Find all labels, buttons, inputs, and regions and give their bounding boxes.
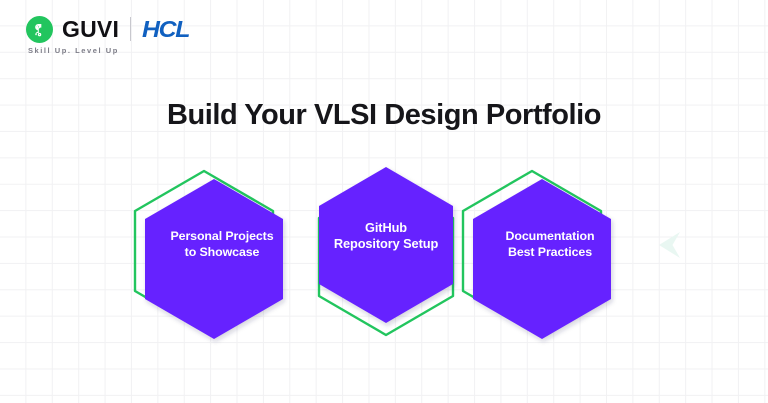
hexagon-card-1[interactable]: Personal Projects to Showcase xyxy=(136,168,308,316)
hexagon-shape-3 xyxy=(464,168,636,316)
hcl-wordmark: HCL xyxy=(142,18,189,41)
hexagon-card-2[interactable]: GitHub Repository Setup xyxy=(304,158,468,324)
guvi-g-icon xyxy=(26,16,53,43)
hexagon-shape-2 xyxy=(304,158,468,324)
slide-canvas: GUVI HCL Skill Up. Level Up Build Your V… xyxy=(0,0,768,403)
brand-header: GUVI HCL Skill Up. Level Up xyxy=(26,14,186,55)
brand-divider xyxy=(130,17,131,41)
page-title: Build Your VLSI Design Portfolio xyxy=(0,99,768,132)
brand-tagline: Skill Up. Level Up xyxy=(28,46,186,55)
hexagon-shape-1 xyxy=(136,168,308,316)
left-arrow-icon xyxy=(655,228,689,262)
guvi-wordmark: GUVI xyxy=(62,18,119,41)
brand-logo-row: GUVI HCL xyxy=(26,14,186,44)
hexagon-card-3[interactable]: Documentation Best Practices xyxy=(464,168,636,316)
